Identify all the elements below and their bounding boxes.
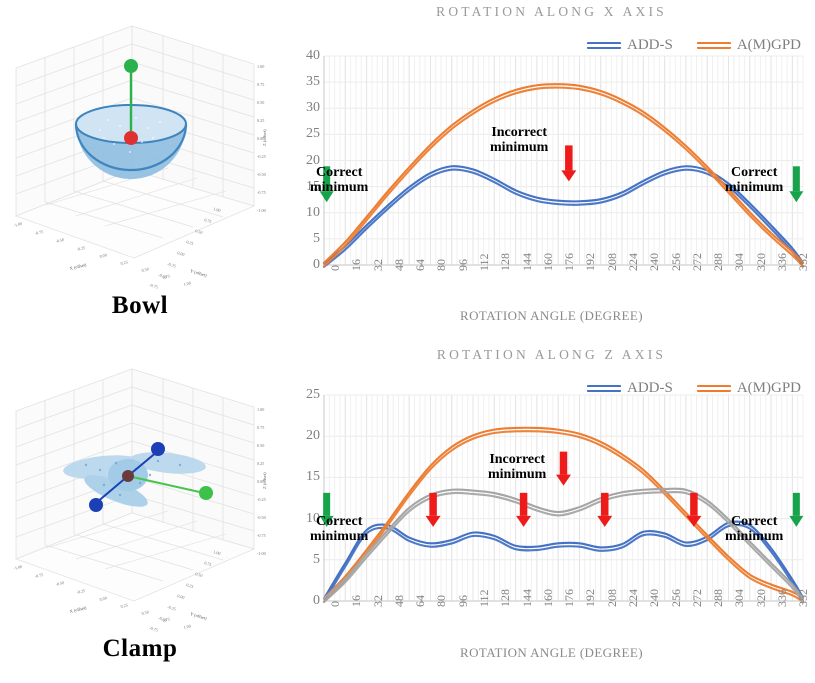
- y-tick-label: 25: [306, 388, 320, 402]
- svg-text:0.50: 0.50: [195, 228, 203, 235]
- callout-line-2: minimum: [725, 181, 783, 196]
- x-tick-label: 256: [670, 589, 682, 607]
- x-tick-label: 208: [606, 253, 618, 271]
- svg-text:0.25: 0.25: [257, 461, 264, 466]
- x-tick-label: 288: [712, 253, 724, 271]
- svg-text:-1.00: -1.00: [13, 221, 23, 228]
- svg-text:0.25: 0.25: [186, 582, 194, 589]
- svg-text:X (offset): X (offset): [69, 605, 87, 614]
- svg-text:0.00: 0.00: [99, 252, 107, 259]
- svg-text:-0.50: -0.50: [158, 272, 168, 279]
- svg-text:-0.50: -0.50: [55, 237, 65, 244]
- x-axis-title-rotation-z: ROTATION ANGLE (DEGREE): [288, 645, 815, 661]
- x-tick-label: 336: [776, 253, 788, 271]
- callout-line-1: Correct: [725, 515, 783, 530]
- figure-page: 1.000.75 0.500.25 0.00-0.25 -0.50-0.75 -…: [0, 0, 815, 683]
- svg-text:Y (offset): Y (offset): [190, 268, 208, 278]
- callout-line-2: minimum: [488, 468, 546, 483]
- x-tick-label: 64: [414, 595, 426, 607]
- x-axis-title-rotation-x: ROTATION ANGLE (DEGREE): [288, 308, 815, 324]
- red-marker-icon: [124, 131, 138, 145]
- callout-line-2: minimum: [310, 181, 368, 196]
- callout-correct-minimum-left-x: Correct minimum: [310, 166, 368, 196]
- svg-text:-0.75: -0.75: [257, 533, 266, 538]
- svg-text:0.25: 0.25: [120, 602, 128, 609]
- object-caption-bowl: Bowl: [0, 292, 280, 320]
- callout-line-1: Incorrect: [488, 453, 546, 468]
- x-tick-label: 336: [776, 589, 788, 607]
- svg-text:-0.75: -0.75: [34, 229, 44, 236]
- object-panel-clamp: 1.000.75 0.500.25 0.00-0.25 -0.50-0.75 -…: [0, 343, 280, 683]
- svg-text:0.75: 0.75: [257, 425, 264, 430]
- bowl-3d-svg: 1.000.75 0.500.25 0.00-0.25 -0.50-0.75 -…: [8, 20, 272, 290]
- svg-text:-0.25: -0.25: [167, 604, 177, 611]
- x-tick-label: 144: [521, 253, 533, 271]
- callout-correct-minimum-left-z: Correct minimum: [310, 515, 368, 545]
- callout-line-1: Correct: [310, 515, 368, 530]
- svg-text:-0.50: -0.50: [55, 580, 65, 587]
- green-marker-icon: [199, 486, 213, 500]
- bowl-3d-plot: 1.000.75 0.500.25 0.00-0.25 -0.50-0.75 -…: [8, 20, 272, 290]
- x-tick-label: 240: [648, 253, 660, 271]
- y-tick-label: 30: [306, 101, 320, 115]
- y-tick-label: 25: [306, 127, 320, 141]
- x-tick-label: 352: [797, 589, 809, 607]
- svg-text:Z (offset): Z (offset): [262, 472, 267, 489]
- x-tick-label: 0: [329, 601, 341, 607]
- chart-panel-rotation-z: ROTATION ALONG Z AXIS ADD-S A(M)GPD 0510…: [288, 343, 815, 683]
- y-tick-label: 35: [306, 75, 320, 89]
- svg-text:1.00: 1.00: [257, 407, 264, 412]
- callout-incorrect-minimum-z: Incorrect minimum: [488, 453, 546, 483]
- svg-text:0.75: 0.75: [257, 82, 264, 87]
- svg-text:0.00: 0.00: [177, 593, 185, 600]
- y-tick-label: 0: [313, 258, 320, 272]
- x-tick-label: 208: [606, 589, 618, 607]
- center-marker-icon: [122, 470, 134, 482]
- svg-text:-1.00: -1.00: [257, 551, 266, 556]
- plot-area-rotation-z: [288, 343, 815, 683]
- callout-line-1: Correct: [725, 166, 783, 181]
- object-caption-clamp: Clamp: [0, 635, 280, 663]
- callout-line-1: Incorrect: [490, 126, 548, 141]
- x-tick-label: 48: [393, 595, 405, 607]
- x-tick-label: 48: [393, 259, 405, 271]
- callout-line-2: minimum: [490, 141, 548, 156]
- y-tick-label: 5: [313, 232, 320, 246]
- callout-line-2: minimum: [725, 530, 783, 545]
- x-tick-label: 304: [733, 589, 745, 607]
- svg-text:1.00: 1.00: [257, 64, 264, 69]
- x-tick-label: 352: [797, 253, 809, 271]
- svg-text:0.50: 0.50: [257, 443, 264, 448]
- callout-correct-minimum-right-z: Correct minimum: [725, 515, 783, 545]
- chart-panel-rotation-x: ROTATION ALONG X AXIS ADD-S A(M)GPD 0510…: [288, 0, 815, 340]
- svg-text:-0.50: -0.50: [257, 515, 266, 520]
- x-tick-label: 256: [670, 253, 682, 271]
- svg-text:0.00: 0.00: [99, 595, 107, 602]
- x-tick-label: 80: [435, 595, 447, 607]
- x-tick-label: 144: [521, 589, 533, 607]
- x-tick-label: 320: [755, 253, 767, 271]
- x-tick-label: 272: [691, 253, 703, 271]
- y-tick-label: 0: [313, 594, 320, 608]
- x-tick-label: 304: [733, 253, 745, 271]
- x-tick-label: 16: [350, 595, 362, 607]
- x-tick-label: 160: [542, 589, 554, 607]
- x-tick-label: 96: [457, 259, 469, 271]
- svg-text:-0.50: -0.50: [158, 615, 168, 622]
- y-axis-labels-rotation-z: 0510152025: [290, 343, 320, 683]
- x-tick-label: 96: [457, 595, 469, 607]
- object-panel-bowl: 1.000.75 0.500.25 0.00-0.25 -0.50-0.75 -…: [0, 0, 280, 340]
- y-tick-label: 5: [313, 553, 320, 567]
- x-tick-label: 128: [499, 253, 511, 271]
- x-tick-label: 128: [499, 589, 511, 607]
- svg-text:0.50: 0.50: [141, 609, 149, 616]
- clamp-3d-svg: 1.000.75 0.500.25 0.00-0.25 -0.50-0.75 -…: [8, 363, 272, 633]
- chart-svg-rotation-z: [288, 343, 815, 683]
- svg-text:0.50: 0.50: [141, 266, 149, 273]
- svg-text:Z (offset): Z (offset): [262, 129, 267, 146]
- svg-text:0.25: 0.25: [257, 118, 264, 123]
- svg-text:-0.25: -0.25: [257, 154, 266, 159]
- x-tick-label: 16: [350, 259, 362, 271]
- svg-text:1.00: 1.00: [183, 280, 191, 287]
- x-tick-label: 80: [435, 259, 447, 271]
- x-tick-label: 320: [755, 589, 767, 607]
- svg-text:-1.00: -1.00: [257, 208, 266, 213]
- y-tick-label: 40: [306, 49, 320, 63]
- x-tick-label: 224: [627, 253, 639, 271]
- svg-text:-0.50: -0.50: [257, 172, 266, 177]
- svg-text:-1.00: -1.00: [13, 564, 23, 571]
- x-tick-label: 224: [627, 589, 639, 607]
- y-tick-label: 20: [306, 429, 320, 443]
- x-tick-label: 176: [563, 589, 575, 607]
- svg-text:-0.25: -0.25: [167, 261, 177, 268]
- svg-text:1.00: 1.00: [183, 623, 191, 630]
- x-tick-label: 192: [584, 589, 596, 607]
- x-tick-label: 288: [712, 589, 724, 607]
- svg-text:0.50: 0.50: [257, 100, 264, 105]
- x-tick-label: 272: [691, 589, 703, 607]
- svg-text:0.00: 0.00: [177, 250, 185, 257]
- svg-text:0.25: 0.25: [120, 259, 128, 266]
- clamp-3d-plot: 1.000.75 0.500.25 0.00-0.25 -0.50-0.75 -…: [8, 363, 272, 633]
- svg-text:0.50: 0.50: [195, 571, 203, 578]
- callout-correct-minimum-right-x: Correct minimum: [725, 166, 783, 196]
- svg-text:-0.25: -0.25: [76, 245, 86, 252]
- svg-text:-0.25: -0.25: [76, 588, 86, 595]
- svg-text:X (offset): X (offset): [69, 262, 87, 271]
- svg-text:-0.75: -0.75: [257, 190, 266, 195]
- blue-marker-icon-2: [89, 498, 103, 512]
- svg-text:Y (offset): Y (offset): [190, 611, 208, 621]
- x-tick-label: 32: [372, 259, 384, 271]
- x-tick-label: 64: [414, 259, 426, 271]
- x-tick-label: 112: [478, 589, 490, 607]
- x-tick-label: 176: [563, 253, 575, 271]
- x-tick-label: 112: [478, 253, 490, 271]
- callout-line-1: Correct: [310, 166, 368, 181]
- svg-text:0.25: 0.25: [186, 239, 194, 246]
- x-tick-label: 240: [648, 589, 660, 607]
- svg-text:-0.75: -0.75: [149, 282, 159, 289]
- callout-line-2: minimum: [310, 530, 368, 545]
- x-tick-label: 192: [584, 253, 596, 271]
- x-tick-label: 0: [329, 265, 341, 271]
- blue-marker-icon-1: [151, 442, 165, 456]
- x-tick-label: 32: [372, 595, 384, 607]
- svg-text:-0.25: -0.25: [257, 497, 266, 502]
- y-tick-label: 10: [306, 206, 320, 220]
- svg-text:-0.75: -0.75: [34, 572, 44, 579]
- svg-text:-0.75: -0.75: [149, 625, 159, 632]
- y-tick-label: 15: [306, 470, 320, 484]
- green-marker-icon: [124, 59, 138, 73]
- x-tick-label: 160: [542, 253, 554, 271]
- callout-incorrect-minimum-x: Incorrect minimum: [490, 126, 548, 156]
